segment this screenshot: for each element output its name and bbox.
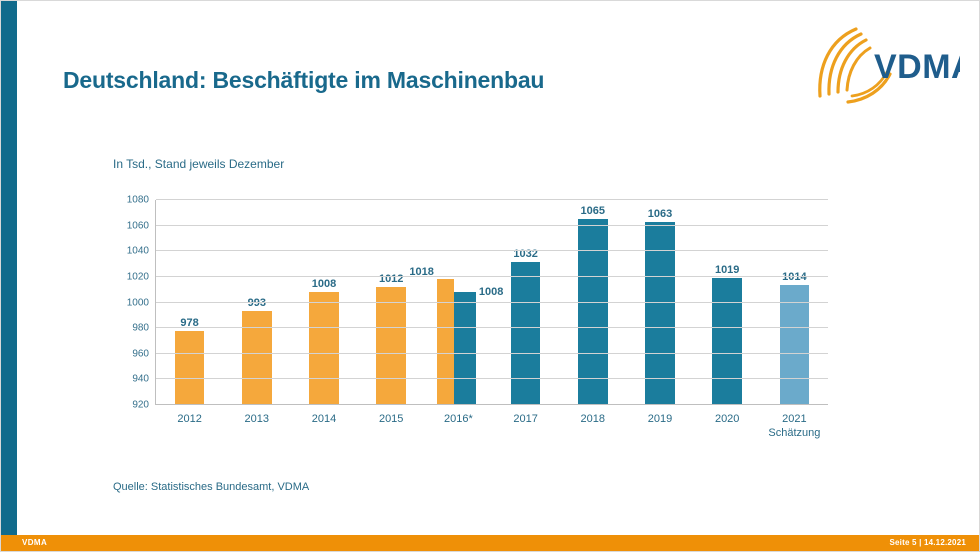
x-axis-category-label: 2016* [444,412,473,426]
x-axis-category-label: 2020 [715,412,739,426]
chart-category-group: 2013993 [223,200,290,405]
x-axis-category-label: 2017 [513,412,537,426]
chart-bar-value-label: 993 [246,297,268,309]
chart-bar: 1019 [712,278,742,405]
gridline: 1040 [156,250,828,251]
slide-canvas: Deutschland: Beschäftigte im Maschinenba… [0,0,980,552]
chart-bar: 1008 [309,292,339,405]
gridline: 1020 [156,276,828,277]
page-title: Deutschland: Beschäftigte im Maschinenba… [63,67,544,94]
y-axis-tick-label: 960 [132,348,149,359]
chart-bar: 1065 [578,219,608,405]
footer-bar: VDMA Seite 5 | 14.12.2021 [0,535,980,552]
chart-category-group: 2016*10181008 [425,200,492,405]
chart-bar: 978 [175,331,205,405]
vdma-logo-wordmark: VDMA [874,48,960,86]
y-axis-tick-label: 1080 [127,195,149,206]
bar-chart: 2012978201399320141008201510122016*10181… [113,192,828,447]
chart-bar-value-label: 1063 [646,208,674,220]
chart-category-group: 20151012 [358,200,425,405]
chart-bar: 1032 [511,262,541,406]
gridline: 920 [156,404,828,405]
x-axis-category-label: 2015 [379,412,403,426]
chart-bar: 1018 [437,279,454,405]
gridline: 1080 [156,199,828,200]
x-axis-category-sublabel: Schätzung [768,426,820,440]
chart-plot-area: 2012978201399320141008201510122016*10181… [155,200,828,405]
x-axis-category-label: 2013 [245,412,269,426]
gridline: 940 [156,378,828,379]
chart-category-group: 2012978 [156,200,223,405]
y-axis-tick-label: 1040 [127,246,149,257]
footer-page-info: Seite 5 | 14.12.2021 [889,538,966,547]
chart-bar: 1008 [454,292,476,405]
chart-bar-value-label: 1019 [713,264,741,276]
y-axis-tick-label: 1000 [127,297,149,308]
x-axis-category-label: 2019 [648,412,672,426]
chart-subtitle: In Tsd., Stand jeweils Dezember [113,157,284,171]
y-axis-tick-label: 920 [132,400,149,411]
chart-bar: 1012 [376,287,406,405]
vdma-logo-graphic: VDMA [808,26,960,104]
footer-brand: VDMA [22,538,47,547]
gridline: 980 [156,327,828,328]
chart-bar: 1014 [780,285,810,405]
chart-category-group: 2021Schätzung1014 [761,200,828,405]
y-axis-tick-label: 940 [132,374,149,385]
gridline: 1000 [156,302,828,303]
chart-category-group: 20201019 [694,200,761,405]
y-axis-tick-label: 1020 [127,271,149,282]
gridline: 1060 [156,225,828,226]
left-accent-bar [0,0,17,537]
chart-bars-layer: 2012978201399320141008201510122016*10181… [156,200,828,405]
x-axis-category-label: 2012 [177,412,201,426]
chart-category-group: 20191063 [626,200,693,405]
chart-category-group: 20181065 [559,200,626,405]
x-axis-category-label: 2021Schätzung [768,412,820,440]
y-axis-tick-label: 1060 [127,220,149,231]
chart-category-group: 20141008 [290,200,357,405]
gridline: 960 [156,353,828,354]
x-axis-category-label: 2018 [581,412,605,426]
y-axis-tick-label: 980 [132,323,149,334]
chart-category-group: 20171032 [492,200,559,405]
chart-source-note: Quelle: Statistisches Bundesamt, VDMA [113,481,309,493]
chart-bar-value-label: 1065 [579,205,607,217]
chart-bar: 993 [242,311,272,405]
vdma-logo: VDMA [808,26,960,104]
x-axis-category-label: 2014 [312,412,336,426]
chart-bar-value-label: 1008 [310,278,338,290]
